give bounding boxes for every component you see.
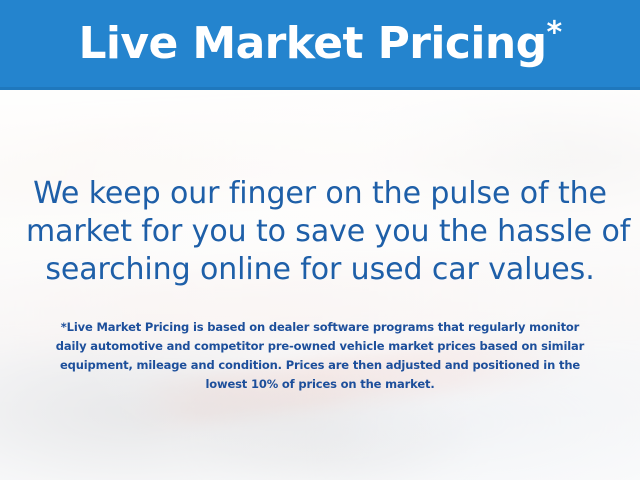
disclaimer-line-1: *Live Market Pricing is based on dealer … bbox=[28, 318, 612, 337]
page-title: Live Market Pricing* bbox=[68, 22, 571, 66]
card-body: We keep our finger on the pulse of the m… bbox=[0, 93, 640, 480]
page-title-asterisk: * bbox=[546, 15, 561, 50]
header-band: Live Market Pricing* bbox=[0, 0, 640, 90]
headline-line-3: searching online for used car values. bbox=[26, 251, 614, 289]
disclaimer-line-4: lowest 10% of prices on the market. bbox=[28, 375, 612, 394]
page-title-text: Live Market Pricing bbox=[78, 18, 546, 69]
live-market-pricing-card: Live Market Pricing* We keep our finger … bbox=[0, 0, 640, 480]
disclaimer-text: *Live Market Pricing is based on dealer … bbox=[28, 318, 612, 394]
headline: We keep our finger on the pulse of the m… bbox=[26, 175, 614, 289]
disclaimer-line-2: daily automotive and competitor pre-owne… bbox=[28, 337, 612, 356]
headline-line-2: market for you to save you the hassle of bbox=[26, 213, 614, 251]
headline-line-1: We keep our finger on the pulse of the bbox=[26, 175, 614, 213]
disclaimer-line-3: equipment, mileage and condition. Prices… bbox=[28, 356, 612, 375]
